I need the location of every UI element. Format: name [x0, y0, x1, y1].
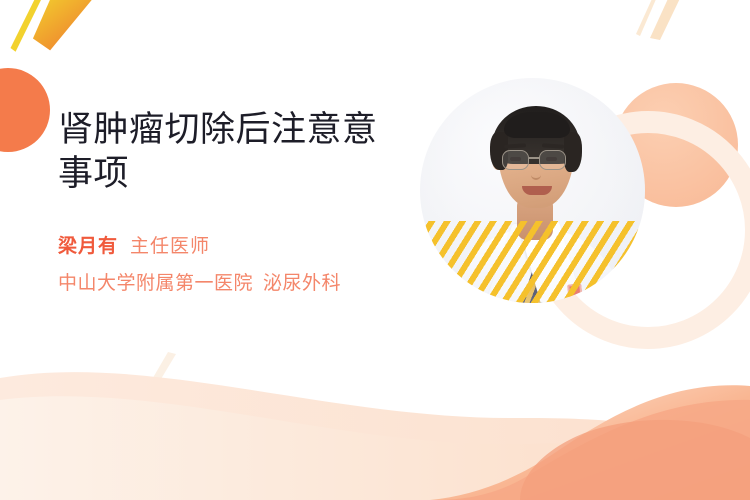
page-title: 肾肿瘤切除后注意意 事项 [58, 108, 408, 196]
doctor-video-cover-card: 肾肿瘤切除后注意意 事项 梁月有主任医师 中山大学附属第一医院泌尿外科 [0, 0, 750, 500]
doctor-name: 梁月有 [58, 236, 118, 257]
doctor-affiliation-line: 中山大学附属第一医院泌尿外科 [58, 271, 428, 297]
decor-circle-orange-left [0, 68, 50, 152]
portrait-circle-frame [420, 78, 645, 303]
doctor-professional-title: 主任医师 [130, 236, 210, 257]
cover-text-block: 肾肿瘤切除后注意意 事项 梁月有主任医师 中山大学附属第一医院泌尿外科 [58, 108, 428, 297]
doctor-primary-line: 梁月有主任医师 [58, 234, 428, 260]
doctor-department: 泌尿外科 [263, 273, 341, 294]
decor-stripes-top-right [636, 0, 684, 40]
doctor-hospital: 中山大学附属第一医院 [58, 273, 253, 294]
portrait-vignette [420, 78, 645, 303]
decor-stripes-top-left [10, 0, 95, 58]
doctor-portrait [420, 78, 645, 303]
